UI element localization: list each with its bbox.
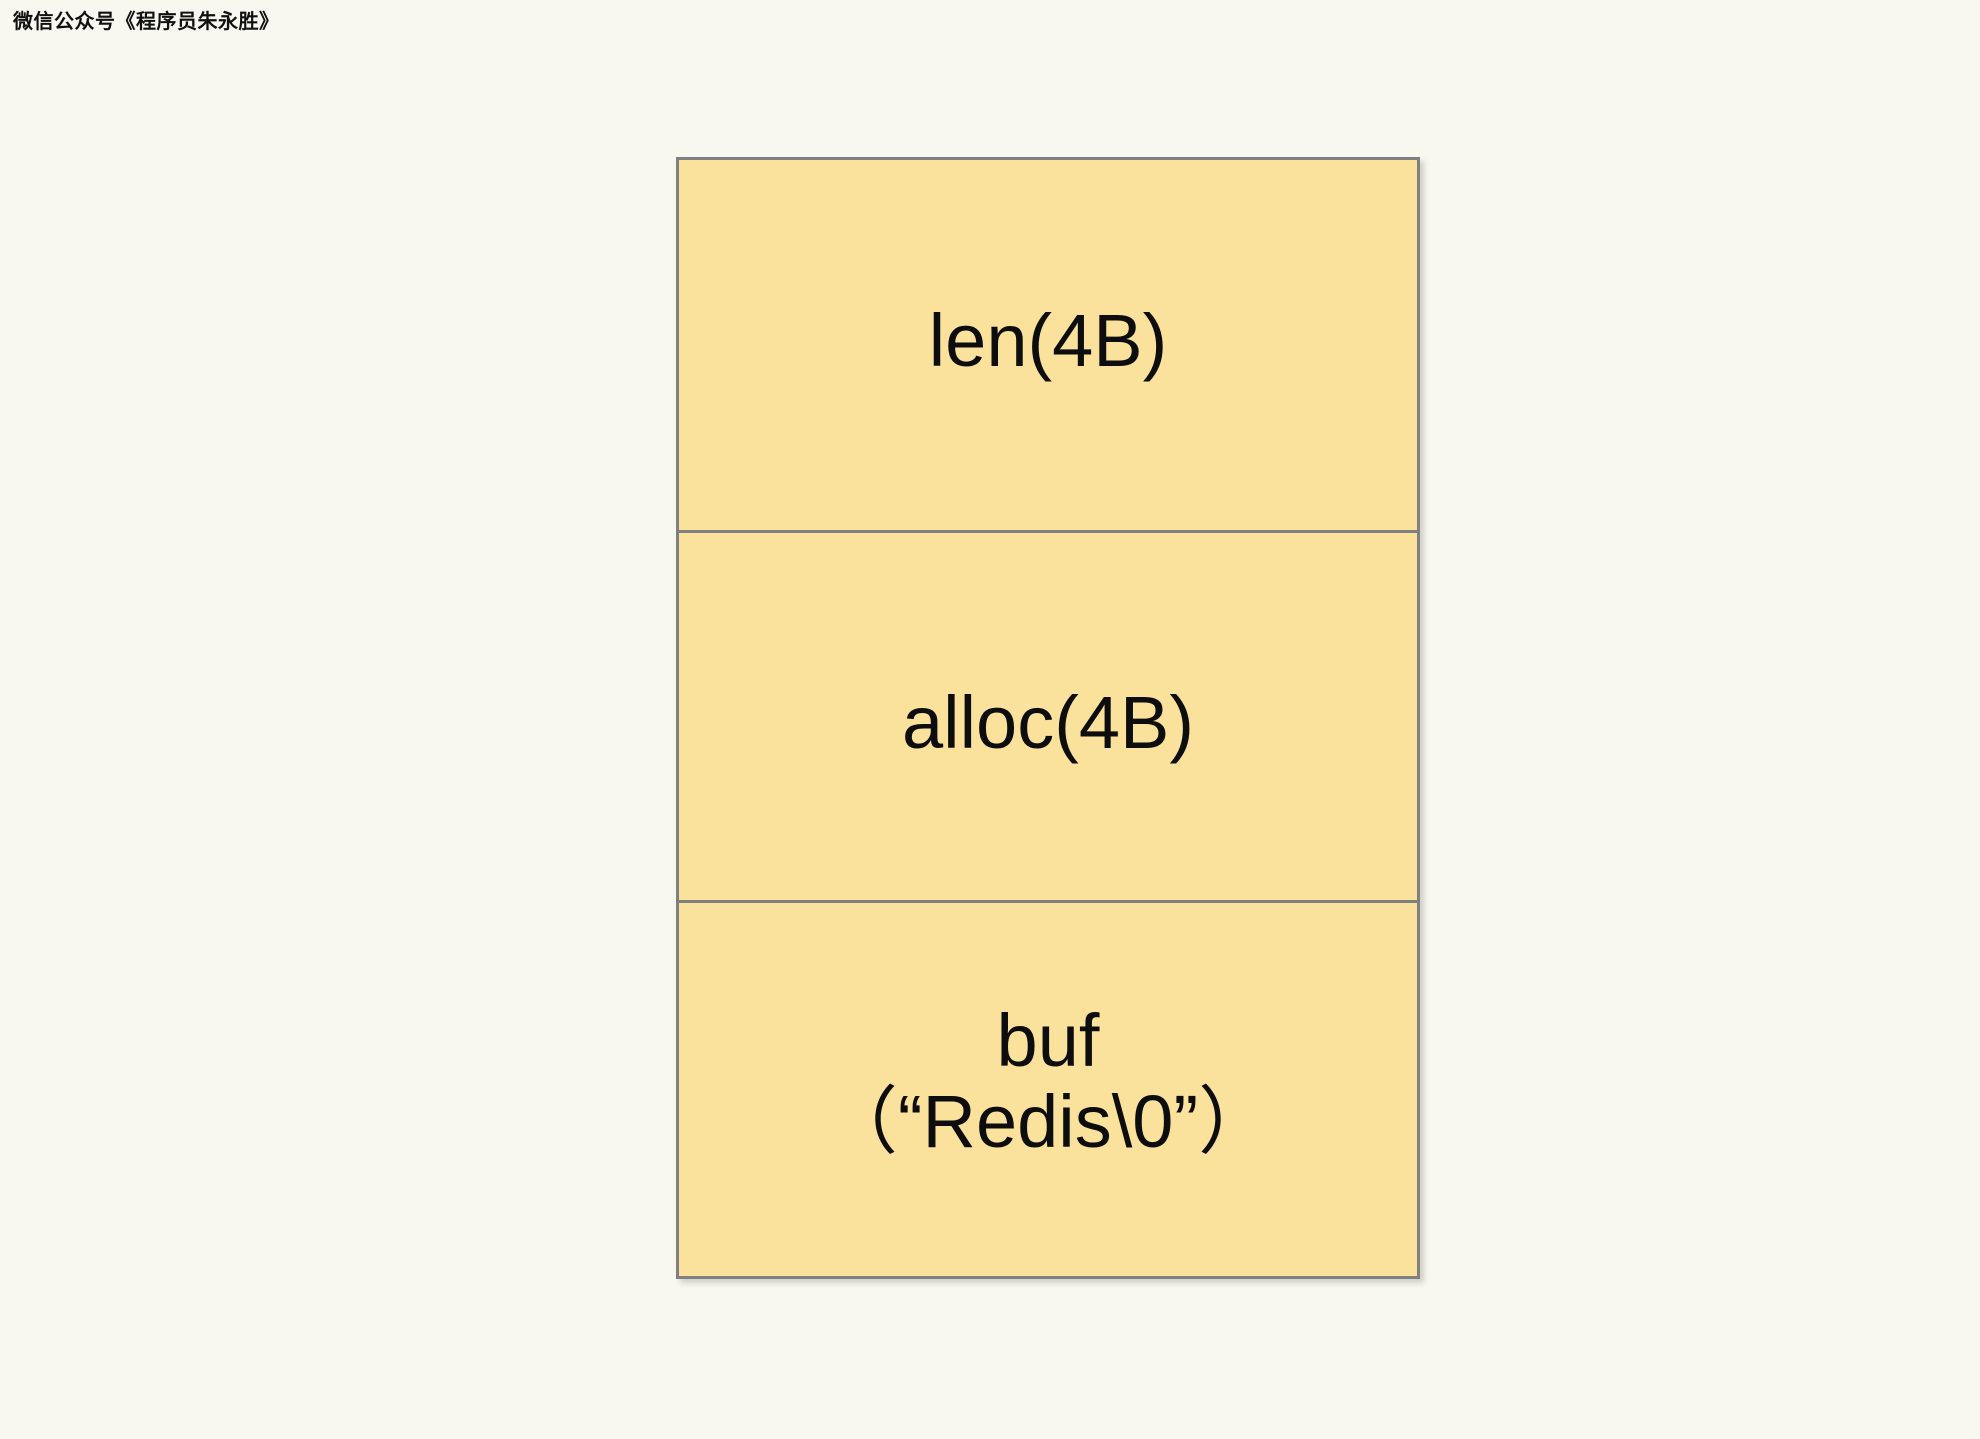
sds-field-alloc: alloc(4B)	[676, 530, 1420, 903]
sds-field-buf-label-line2: （“Redis\0”）	[824, 1084, 1272, 1159]
sds-field-len: len(4B)	[676, 157, 1420, 533]
watermark-text: 微信公众号《程序员朱永胜》	[13, 8, 280, 34]
sds-field-buf-label: buf （“Redis\0”）	[824, 1003, 1272, 1160]
sds-field-alloc-label: alloc(4B)	[902, 685, 1194, 760]
sds-structure-diagram: len(4B) alloc(4B) buf （“Redis\0”）	[676, 157, 1420, 1282]
sds-field-buf-label-line1: buf	[997, 999, 1100, 1082]
sds-field-buf: buf （“Redis\0”）	[676, 900, 1420, 1279]
sds-field-len-label: len(4B)	[929, 303, 1168, 378]
